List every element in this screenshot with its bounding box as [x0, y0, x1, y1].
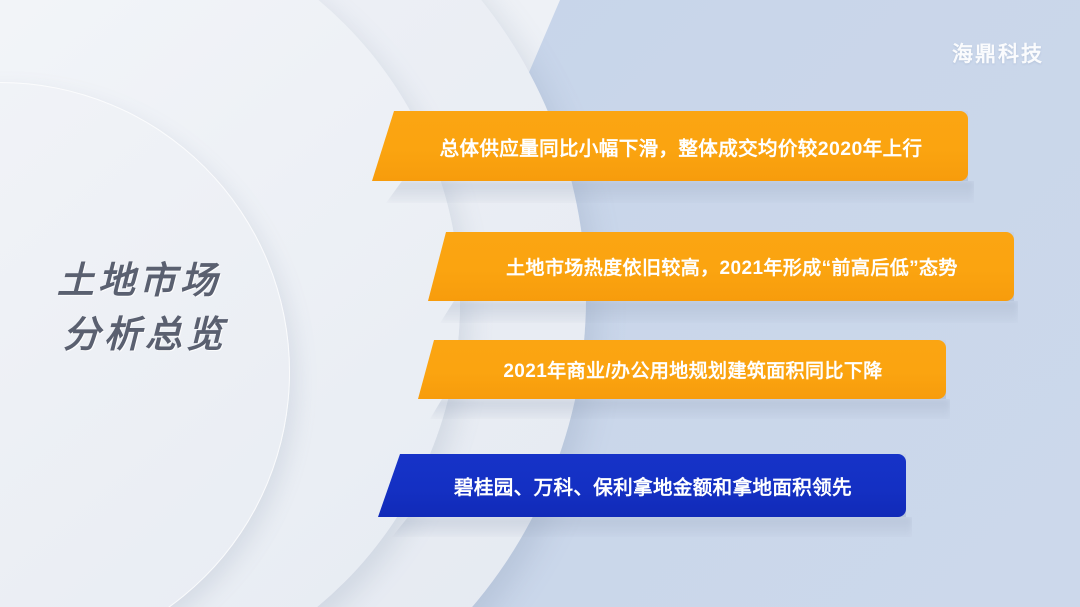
slide-canvas: 海鼎科技 土地市场 分析总览 总体供应量同比小幅下滑，整体成交均价较2020年上… [0, 0, 1080, 607]
page-title-line-1: 土地市场 [57, 254, 227, 308]
page-title-line-2: 分析总览 [57, 308, 227, 362]
page-title: 土地市场 分析总览 [57, 254, 227, 361]
summary-bar-1-label: 总体供应量同比小幅下滑，整体成交均价较2020年上行 [398, 132, 943, 161]
summary-bar-3-label: 2021年商业/办公用地规划建筑面积同比下降 [461, 356, 902, 383]
summary-bar-3[interactable]: 2021年商业/办公用地规划建筑面积同比下降 [418, 340, 946, 399]
summary-bar-4[interactable]: 碧桂园、万科、保利拿地金额和拿地面积领先 [378, 454, 906, 517]
summary-bar-4-label: 碧桂园、万科、保利拿地金额和拿地面积领先 [412, 471, 872, 500]
summary-bar-2-label: 土地市场热度依旧较高，2021年形成“前高后低”态势 [464, 253, 978, 280]
summary-bar-1[interactable]: 总体供应量同比小幅下滑，整体成交均价较2020年上行 [372, 111, 968, 181]
summary-bar-2[interactable]: 土地市场热度依旧较高，2021年形成“前高后低”态势 [428, 232, 1014, 301]
company-logo: 海鼎科技 [952, 38, 1044, 68]
